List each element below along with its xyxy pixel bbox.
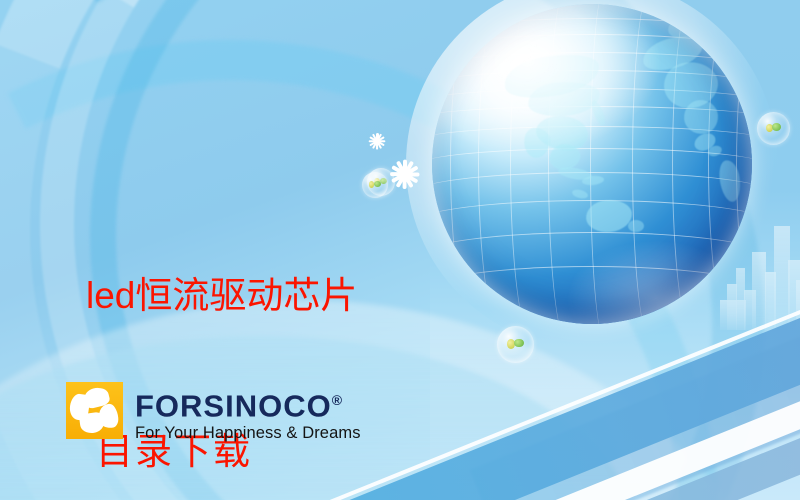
bubble-leaf-green-icon (772, 123, 781, 131)
brand-tagline: For Your Happiness & Dreams (135, 423, 361, 443)
headline-line-1: led恒流驱动芯片 (86, 270, 357, 322)
eco-bubble-right-icon (757, 112, 790, 145)
bubble-leaf-green-icon (374, 181, 381, 187)
bubble-leaf-green-icon (514, 339, 524, 348)
globe-sphere (432, 4, 752, 324)
eco-bubble-center-icon (497, 326, 534, 363)
brand-name: FORSINOCO® (135, 383, 361, 423)
forsinoco-pinwheel-mark-icon (66, 382, 123, 439)
brand-text-block: FORSINOCO® For Your Happiness & Dreams (135, 382, 361, 443)
starburst-small-icon (369, 133, 386, 150)
eco-bubble-title-icon (362, 172, 388, 198)
brand-logo[interactable]: FORSINOCO® For Your Happiness & Dreams (66, 382, 361, 443)
skyline-building-icon (752, 252, 766, 330)
globe-graphic (432, 4, 752, 324)
brand-word: FORSINOCO (135, 388, 332, 423)
registered-trademark-icon: ® (332, 392, 342, 408)
page-title: led恒流驱动芯片 目录下载 (86, 166, 357, 500)
globe-rim (432, 4, 752, 324)
promo-banner-slide: led恒流驱动芯片 目录下载 FORSINOCO® For Your Happi… (0, 0, 800, 500)
